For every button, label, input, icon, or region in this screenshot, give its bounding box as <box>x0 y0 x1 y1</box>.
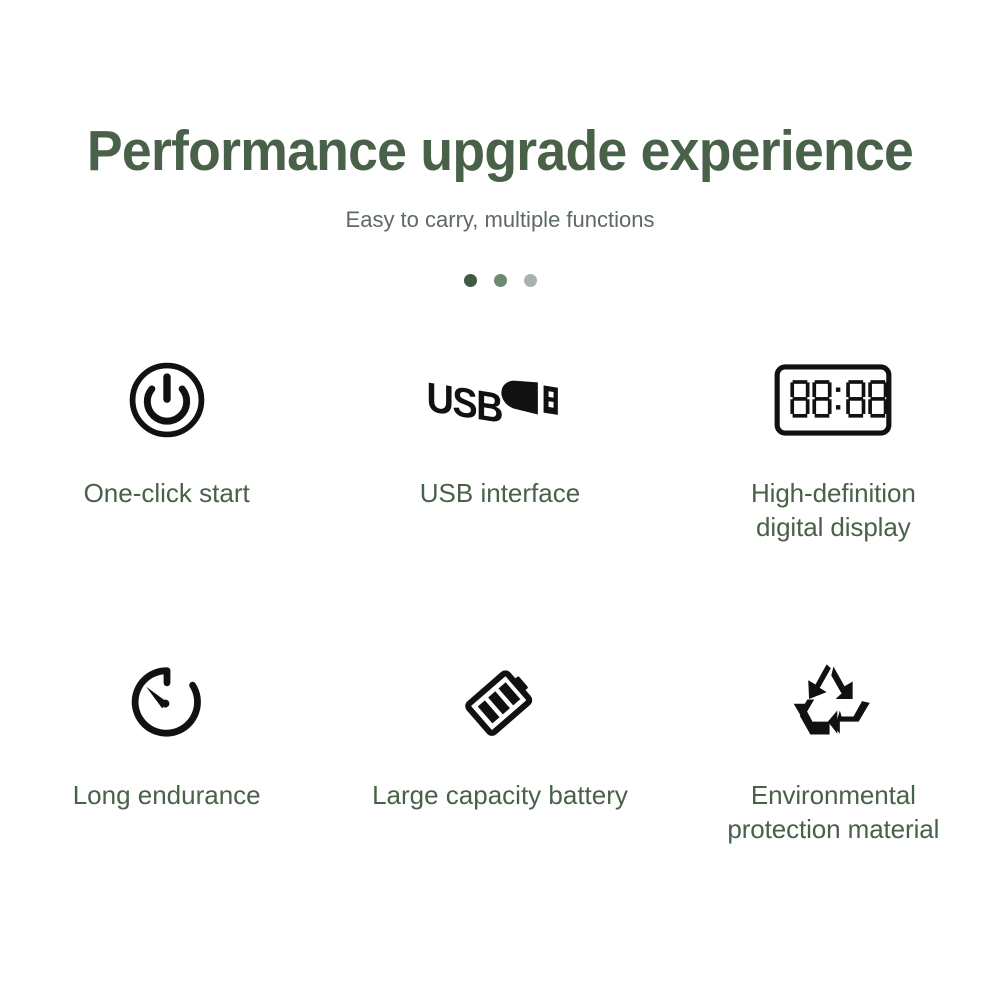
carousel-dot-3[interactable] <box>524 274 537 287</box>
recycle-icon <box>790 654 876 750</box>
battery-icon <box>457 654 543 750</box>
header: Performance upgrade experience Easy to c… <box>0 118 1000 234</box>
feature-item-digital-display: High-definition digital display <box>667 352 1000 582</box>
carousel-dots[interactable] <box>0 274 1000 287</box>
svg-text:USB: USB <box>426 375 502 433</box>
power-button-icon <box>126 352 208 448</box>
stopwatch-timer-icon <box>127 654 207 750</box>
feature-label: High-definition digital display <box>751 476 916 544</box>
feature-label: Large capacity battery <box>372 778 628 812</box>
feature-label: Long endurance <box>73 778 261 812</box>
page-title: Performance upgrade experience <box>30 118 970 184</box>
usb-plug-icon: USB <box>425 352 575 448</box>
feature-label: One-click start <box>84 476 250 510</box>
feature-item-usb-interface: USB USB interface <box>333 352 666 582</box>
feature-grid: One-click start USB USB interface <box>0 352 1000 884</box>
feature-item-one-click-start: One-click start <box>0 352 333 582</box>
digital-display-icon <box>774 352 892 448</box>
feature-label: Environmental protection material <box>727 778 939 846</box>
feature-label: USB interface <box>420 476 580 510</box>
feature-item-long-endurance: Long endurance <box>0 654 333 884</box>
carousel-dot-2[interactable] <box>494 274 507 287</box>
page-subtitle: Easy to carry, multiple functions <box>0 206 1000 234</box>
carousel-dot-1[interactable] <box>464 274 477 287</box>
promo-banner: Performance upgrade experience Easy to c… <box>0 0 1000 1000</box>
feature-item-large-capacity-battery: Large capacity battery <box>333 654 666 884</box>
feature-item-environmental-material: Environmental protection material <box>667 654 1000 884</box>
